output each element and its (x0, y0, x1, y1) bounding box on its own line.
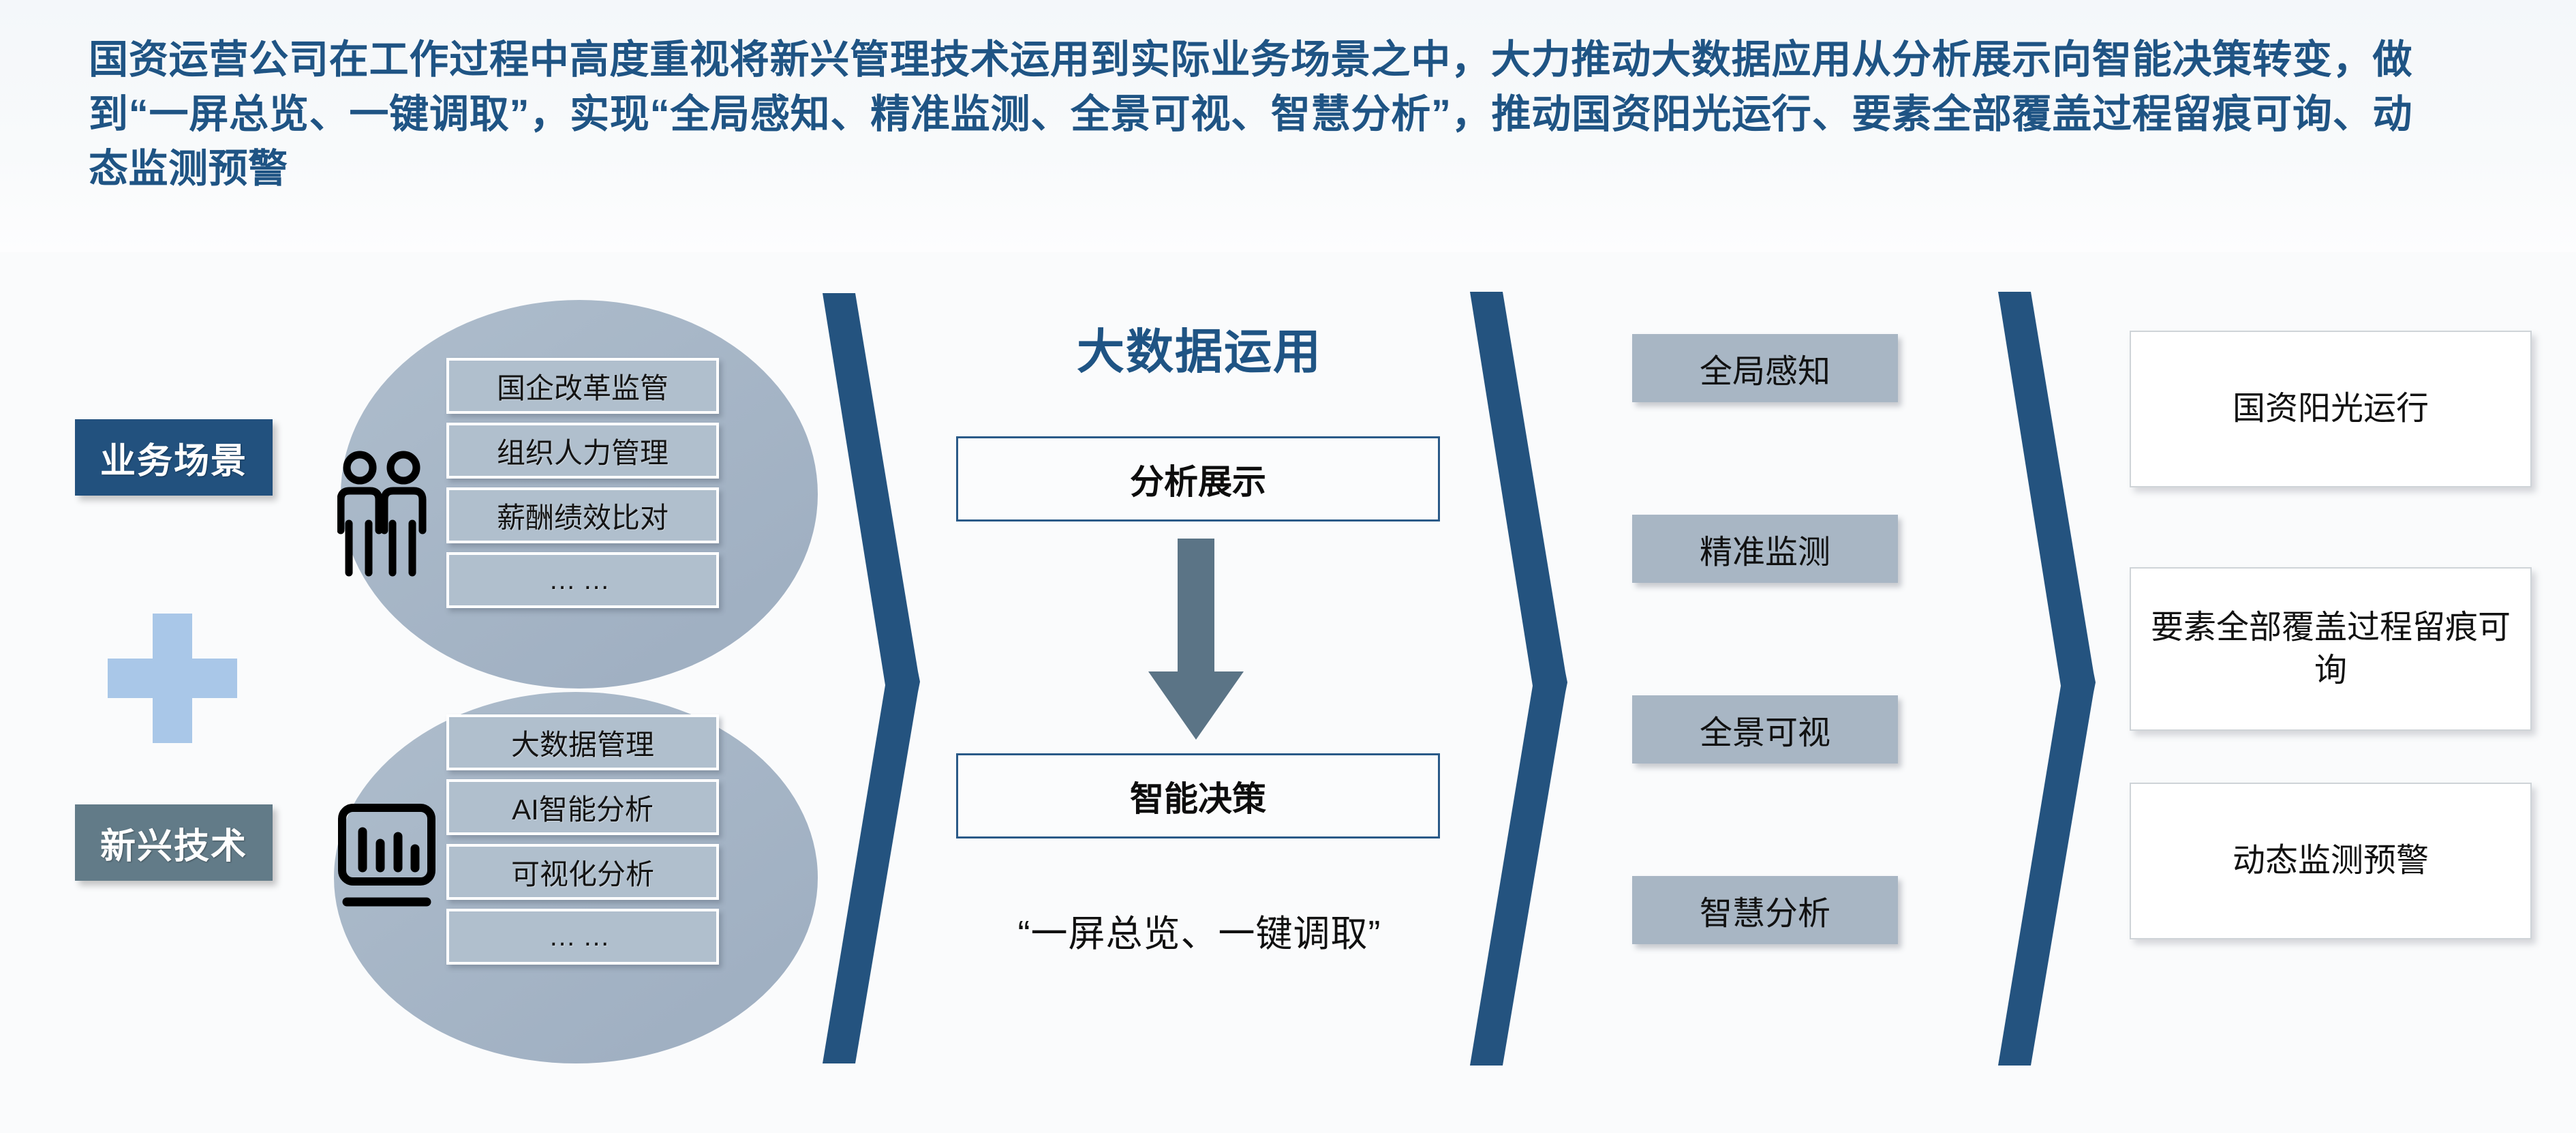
chevron-right-icon (1462, 292, 1578, 1066)
capability-label: 智慧分析 (1700, 886, 1830, 934)
capability-label: 全景可视 (1700, 706, 1830, 753)
capability-label: 全局感知 (1700, 344, 1830, 392)
intelligent-decision-label: 智能决策 (1130, 772, 1266, 821)
list-item-label: 国企改革监管 (497, 365, 669, 407)
list-item[interactable]: 国企改革监管 (446, 358, 719, 414)
business-scenario-label-text: 业务场景 (100, 432, 247, 483)
list-item-label: 大数据管理 (511, 722, 654, 764)
bar-chart-monitor-icon (337, 801, 436, 913)
list-item[interactable]: 薪酬绩效比对 (446, 487, 719, 543)
chevron-right-icon (1990, 292, 2106, 1066)
outcome-label: 要素全部覆盖过程留痕可询 (2143, 606, 2518, 693)
outcome-label: 动态监测预警 (2233, 839, 2429, 882)
intelligent-decision-box[interactable]: 智能决策 (956, 753, 1440, 839)
list-item[interactable]: 组织人力管理 (446, 423, 719, 479)
capability-box[interactable]: 全景可视 (1632, 695, 1898, 764)
list-item[interactable]: AI智能分析 (446, 779, 719, 835)
outcome-box[interactable]: 动态监测预警 (2130, 783, 2532, 939)
capability-box[interactable]: 精准监测 (1632, 515, 1898, 583)
plus-icon (108, 614, 237, 743)
chevron-right-icon (814, 293, 930, 1063)
analysis-display-label: 分析展示 (1130, 455, 1266, 504)
list-item-label: 组织人力管理 (497, 430, 669, 472)
analysis-display-box[interactable]: 分析展示 (956, 436, 1440, 522)
list-item-label: …… (549, 565, 617, 596)
outcome-label: 国资阳光运行 (2233, 387, 2429, 430)
emerging-technology-label: 新兴技术 (75, 804, 273, 881)
capability-box[interactable]: 智慧分析 (1632, 876, 1898, 944)
diagram-stage: 业务场景 新兴技术 国企改革监管 组织人力管理 薪酬绩效比对 (0, 0, 2576, 1133)
arrow-down-icon (1145, 539, 1247, 743)
center-section-title: 大数据运用 (954, 314, 1445, 382)
outcome-box[interactable]: 要素全部覆盖过程留痕可询 (2130, 567, 2532, 731)
list-item-label: AI智能分析 (512, 787, 654, 828)
people-icon (337, 450, 436, 579)
outcome-box[interactable]: 国资阳光运行 (2130, 331, 2532, 487)
list-item[interactable]: …… (446, 909, 719, 965)
list-item[interactable]: 可视化分析 (446, 844, 719, 900)
plus-icon-vertical-bar (153, 614, 192, 743)
list-item-label: 可视化分析 (511, 851, 654, 893)
list-item-label: 薪酬绩效比对 (497, 495, 669, 537)
emerging-technology-label-text: 新兴技术 (100, 817, 247, 868)
list-item[interactable]: …… (446, 552, 719, 608)
capability-box[interactable]: 全局感知 (1632, 334, 1898, 402)
capability-label: 精准监测 (1700, 525, 1830, 573)
list-item[interactable]: 大数据管理 (446, 714, 719, 770)
center-section-caption: “一屏总览、一键调取” (947, 903, 1452, 957)
business-scenario-label: 业务场景 (75, 419, 273, 496)
list-item-label: …… (549, 922, 617, 952)
